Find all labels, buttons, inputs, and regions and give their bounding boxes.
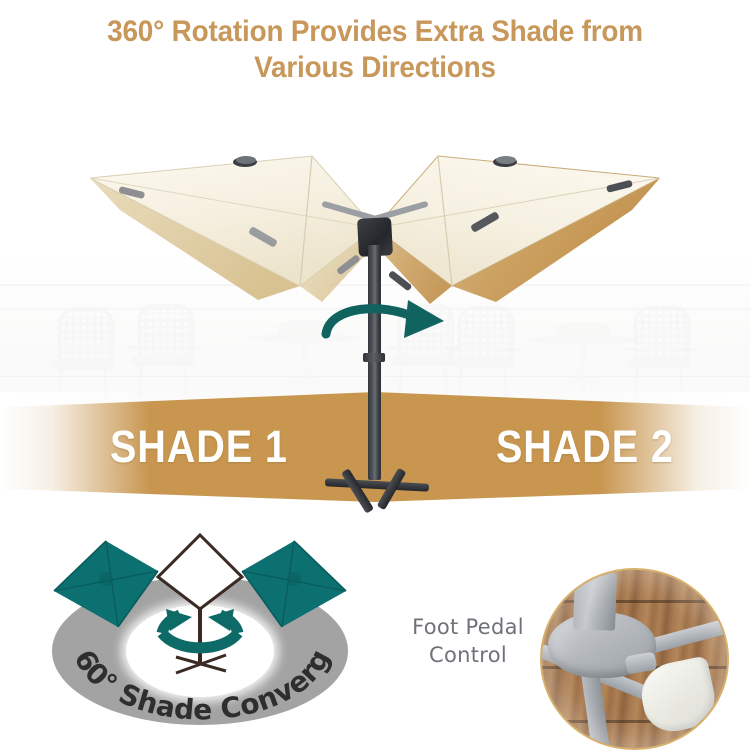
converge-badge: 360° Shade Converge [30, 505, 370, 735]
photo-vignette [542, 570, 727, 748]
canopy-left [90, 156, 375, 302]
page-title: 360° Rotation Provides Extra Shade from … [26, 14, 724, 86]
product-umbrella [0, 70, 750, 490]
foot-pedal-photo [540, 568, 729, 750]
umbrella-pole [368, 245, 381, 480]
foot-pedal-label: Foot Pedal Control [378, 613, 558, 669]
foot-pedal-label-line1: Foot Pedal [378, 613, 558, 641]
badge-canopy-right [242, 541, 346, 627]
badge-canopy-left [54, 541, 158, 627]
canopy-right [375, 156, 660, 304]
base-bar-horizontal [325, 478, 429, 491]
page-title-line1: 360° Rotation Provides Extra Shade from [26, 14, 724, 50]
rotation-arrow [320, 300, 450, 362]
infographic-canvas: SHADE 1 SHADE 2 [0, 0, 750, 750]
page-title-line2: Various Directions [26, 50, 724, 86]
foot-pedal-label-line2: Control [378, 641, 558, 669]
